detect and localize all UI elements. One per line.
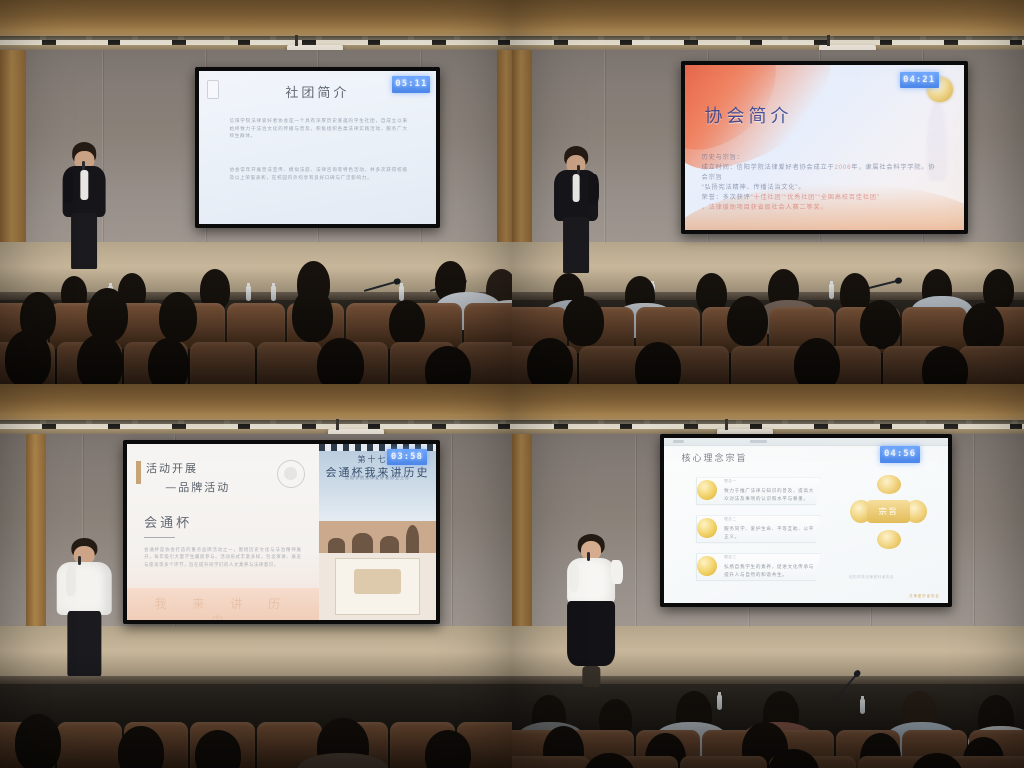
projection-screen: 协会简介 历史与宗旨： 成立时间：信阳学院法律爱好者协会成立于2006年，隶属社… xyxy=(681,61,968,234)
wall-column xyxy=(512,434,532,653)
slide-line-5: ，法律援助项目获省级社会人赛二等奖。 xyxy=(702,203,939,213)
projection-screen: 社团简介 信阳学院法律爱好者协会是一个具有深厚历史底蕴的学生社团，自成立以来始终… xyxy=(195,67,441,228)
countdown-timer: 04:56 xyxy=(880,446,920,462)
slide-title: 协会简介 xyxy=(704,102,792,128)
bullet-text: 服务同学、爱护生命、平等互助、公平正义。 xyxy=(724,525,818,541)
slide-footer-text: 我 来 讲 历 史 xyxy=(146,595,300,620)
slide-heading-1: 活动开展 xyxy=(146,460,198,476)
countdown-timer: 03:58 xyxy=(387,449,427,465)
water-bottle xyxy=(829,284,834,299)
ceiling-light-bar xyxy=(512,40,1024,45)
bullet-text: 弘扬自我学生的素养，促进文化传承与提升人与自然的和谐共生。 xyxy=(724,563,818,579)
slide-content: 社团简介 信阳学院法律爱好者协会是一个具有深厚历史底蕴的学生社团，自成立以来始终… xyxy=(199,71,437,224)
slide-year-highlight: 2006 xyxy=(834,164,851,171)
slide-toolbar xyxy=(664,438,948,446)
slide-title: 核心理念宗旨 xyxy=(681,451,747,464)
event-poster-bottom xyxy=(319,553,437,620)
poster-line-3: 信阳学院法律爱好者协会主办 xyxy=(319,475,437,481)
panel-bottom-left: 活动开展 —品牌活动 会通杯 会通杯是协会打造的重点品牌活动之一，围绕历史文化与… xyxy=(0,384,512,768)
slide-heading-3: 会通杯 xyxy=(144,512,192,531)
bullet-tag: 理念一 xyxy=(724,479,737,484)
wall-column xyxy=(0,50,26,269)
bullet-tag: 理念三 xyxy=(724,555,737,560)
bullet-dot-icon xyxy=(697,518,717,538)
honor-2: “优秀社团” xyxy=(784,194,818,201)
slide-paragraph-1: 信阳学院法律爱好者协会是一个具有深厚历史底蕴的学生社团，自成立以来始终致力于法治… xyxy=(229,117,407,140)
ceiling-light-bar xyxy=(0,40,512,45)
honor-1: “十佳社团” xyxy=(751,194,785,201)
presenter-figure xyxy=(51,538,118,676)
honor-3: “全国高校百佳社团” xyxy=(818,194,880,201)
slide-line-3: “弘扬宪法精神、传播法治文化”。 xyxy=(702,183,939,193)
countdown-timer: 05:11 xyxy=(392,76,430,93)
slide-paragraph-2: 协会常年开展普法宣传、模拟法庭、法律咨询等特色活动，并多次获得校级及以上荣誉表彰… xyxy=(229,166,407,181)
slide-content: 活动开展 —品牌活动 会通杯 会通杯是协会打造的重点品牌活动之一，围绕历史文化与… xyxy=(127,444,436,620)
photo-collage: 社团简介 信阳学院法律爱好者协会是一个具有深厚历史底蕴的学生社团，自成立以来始终… xyxy=(0,0,1024,768)
water-bottle xyxy=(717,695,722,710)
panel-top-left: 社团简介 信阳学院法律爱好者协会是一个具有深厚历史底蕴的学生社团，自成立以来始终… xyxy=(0,0,512,384)
presenter-figure xyxy=(56,142,112,269)
bullet-tag: 理念二 xyxy=(724,517,737,522)
water-bottle xyxy=(860,699,865,714)
water-bottle xyxy=(399,286,404,301)
slide-footer: 我 来 讲 历 史 xyxy=(127,588,319,620)
wall-column-right xyxy=(497,50,512,269)
presenter-figure xyxy=(558,534,625,688)
emblem-cross-graphic: 宗旨 xyxy=(852,477,926,546)
bullet-dot-icon xyxy=(697,556,717,576)
association-seal-icon xyxy=(277,460,306,489)
event-poster-middle xyxy=(319,521,437,553)
slide-heading-2: —品牌活动 xyxy=(165,479,230,495)
slide-content: 协会简介 历史与宗旨： 成立时间：信阳学院法律爱好者协会成立于2006年，隶属社… xyxy=(685,65,964,230)
bullet-dot-icon xyxy=(697,480,717,500)
projection-screen: 活动开展 —品牌活动 会通杯 会通杯是协会打造的重点品牌活动之一，围绕历史文化与… xyxy=(123,440,440,624)
projection-screen: 核心理念宗旨 理念一 致力于推广法律与知识的普及，提高大众对法及事项的认识和水平… xyxy=(660,434,952,607)
presenter-figure xyxy=(548,146,604,273)
slide-brand: 法律爱好者协会 xyxy=(909,593,940,598)
water-bottle xyxy=(271,286,276,301)
water-bottle xyxy=(246,286,251,301)
bullet-text: 致力于推广法律与知识的普及，提高大众对法及事项的认识和水平与尊重。 xyxy=(724,487,818,503)
slide-line-4-text: 多次获评 xyxy=(723,194,751,201)
accent-bar xyxy=(136,461,141,484)
slide-line-1: 历史与宗旨： xyxy=(702,153,939,163)
slide-line-4-label: 荣誉： xyxy=(702,194,723,201)
ceiling-light-bar xyxy=(0,424,512,429)
slide-content: 核心理念宗旨 理念一 致力于推广法律与知识的普及，提高大众对法及事项的认识和水平… xyxy=(664,438,948,603)
poster-document-image xyxy=(335,558,420,614)
panel-top-right: 协会简介 历史与宗旨： 成立时间：信阳学院法律爱好者协会成立于2006年，隶属社… xyxy=(512,0,1024,384)
wall-column xyxy=(512,50,532,269)
divider xyxy=(144,537,175,538)
slide-body: 历史与宗旨： 成立时间：信阳学院法律爱好者协会成立于2006年，隶属社会科学学院… xyxy=(702,153,939,213)
slide-line-2-label: 成立时间： xyxy=(702,164,737,171)
slide-paragraph: 会通杯是协会打造的重点品牌活动之一，围绕历史文化与法治精神展开，每年吸引大量学生… xyxy=(144,546,301,568)
slide-line-2-a: 信阳学院法律爱好者协会成立于 xyxy=(737,164,835,171)
panel-bottom-right: 核心理念宗旨 理念一 致力于推广法律与知识的普及，提高大众对法及事项的认识和水平… xyxy=(512,384,1024,768)
wall-column xyxy=(26,434,46,653)
countdown-timer: 04:21 xyxy=(900,72,939,88)
slide-watermark: 信阳学院法律爱好者协会 xyxy=(849,574,934,580)
emblem-center-label: 宗旨 xyxy=(867,500,910,524)
